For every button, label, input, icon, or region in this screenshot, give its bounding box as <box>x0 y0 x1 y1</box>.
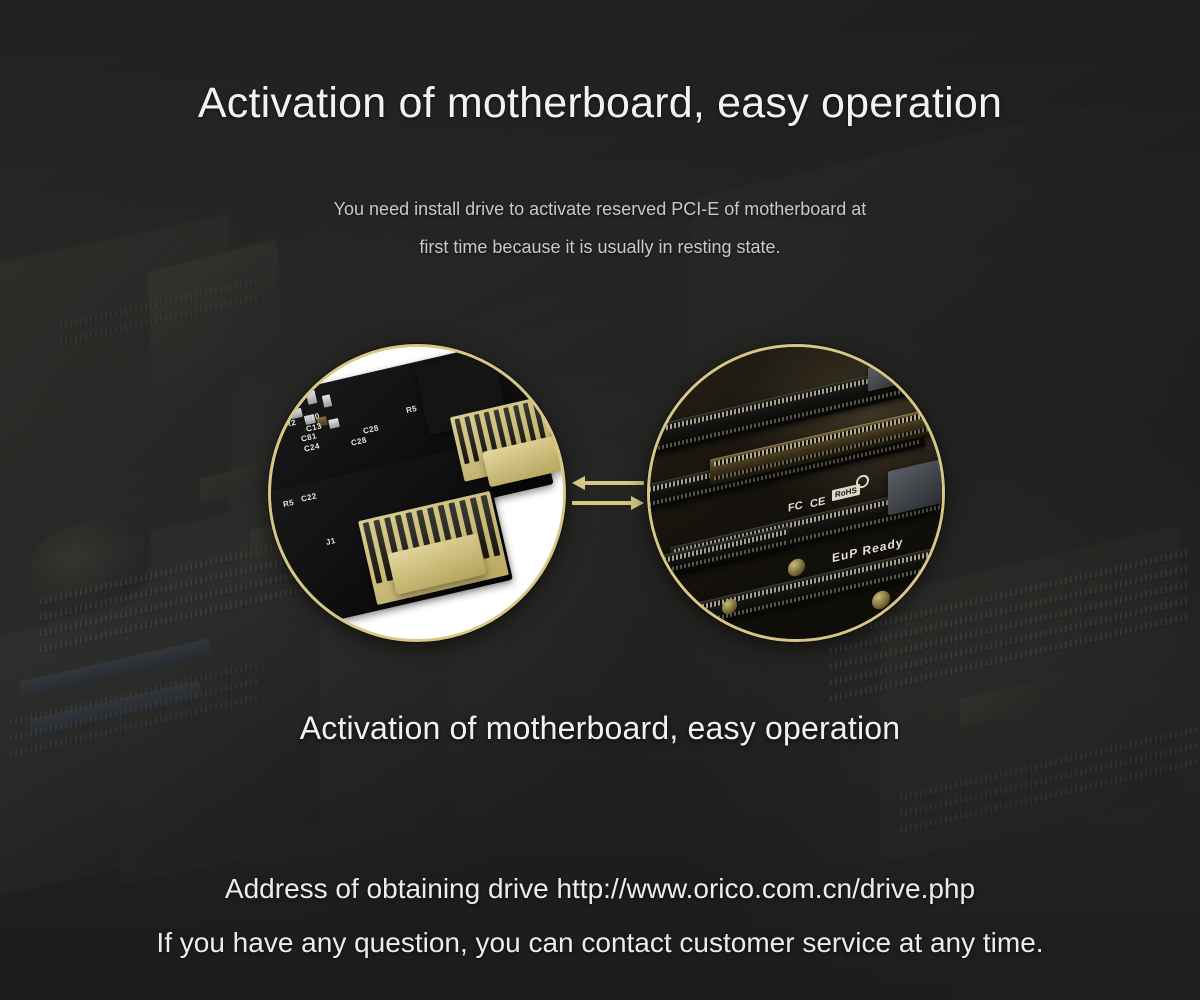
card-closeup-image: R5 C28 C28 C24 C81 C13 R10 R2 R5 C22 J1 <box>271 347 563 639</box>
promo-banner: Activation of motherboard, easy operatio… <box>0 0 1200 1000</box>
subtitle-line-2: first time because it is usually in rest… <box>0 228 1200 266</box>
arrow-left-icon <box>572 480 644 486</box>
page-title: Activation of motherboard, easy operatio… <box>0 79 1200 128</box>
footer-text: Address of obtaining drive http://www.or… <box>0 862 1200 970</box>
figure-caption: Activation of motherboard, easy operatio… <box>0 710 1200 747</box>
subtitle-line-1: You need install drive to activate reser… <box>0 190 1200 228</box>
footer-line-1: Address of obtaining drive http://www.or… <box>0 862 1200 916</box>
exchange-arrows <box>572 470 644 520</box>
callout-circle-card: R5 C28 C28 C24 C81 C13 R10 R2 R5 C22 J1 <box>268 344 566 642</box>
callout-circle-motherboard: FC CE RoHS EuP Ready <box>647 344 945 642</box>
arrow-right-icon <box>572 500 644 506</box>
footer-line-2: If you have any question, you can contac… <box>0 916 1200 970</box>
page-subtitle: You need install drive to activate reser… <box>0 190 1200 266</box>
motherboard-closeup-image: FC CE RoHS EuP Ready <box>650 347 942 639</box>
